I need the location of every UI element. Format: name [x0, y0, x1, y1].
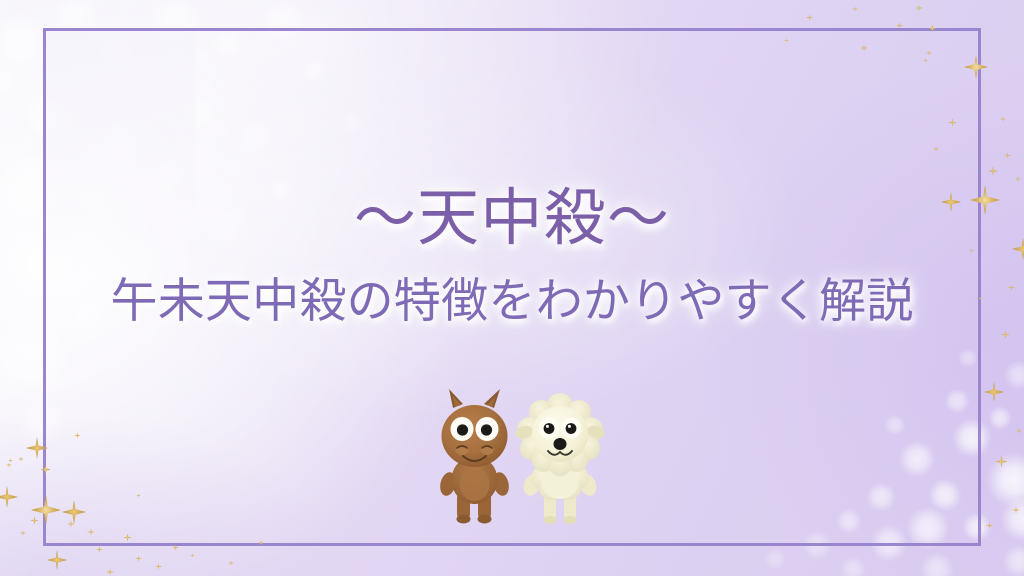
sheep-mascot — [514, 390, 606, 529]
mascot-row — [0, 388, 1024, 528]
slide-canvas: 〜天中殺〜 午未天中殺の特徴をわかりやすく解説 — [0, 0, 1024, 576]
sheep-head — [532, 406, 588, 462]
horse-head — [442, 405, 508, 467]
sub-title: 午未天中殺の特徴をわかりやすく解説 — [0, 277, 1024, 329]
horse-mascot — [430, 388, 520, 529]
main-title: 〜天中殺〜 — [0, 186, 1024, 253]
title-block: 〜天中殺〜 午未天中殺の特徴をわかりやすく解説 — [0, 186, 1024, 329]
